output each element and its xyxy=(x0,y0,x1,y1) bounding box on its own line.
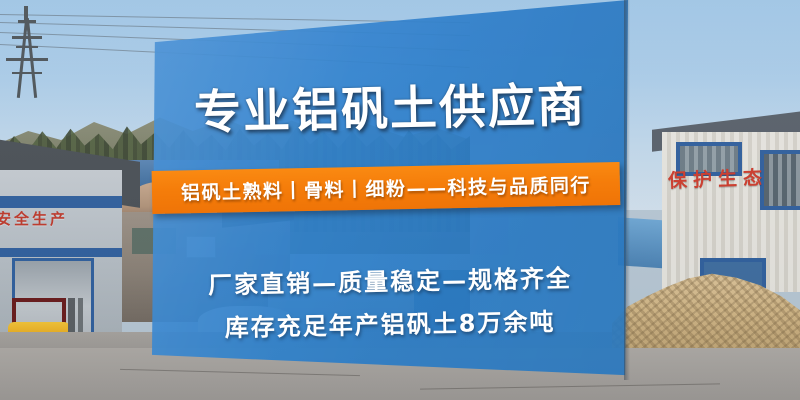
tagline-bar: 铝矾土熟料丨骨料丨细粉——科技与品质同行 xyxy=(152,162,621,214)
banner-image: 安全生产 保护生态 xyxy=(0,0,800,400)
tagline-text: 铝矾土熟料丨骨料丨细粉——科技与品质同行 xyxy=(181,171,591,206)
subline-1: 厂家直销—质量稳定—规格齐全 xyxy=(152,257,629,301)
banner-content: 专业铝矾土供应商 铝矾土熟料丨骨料丨细粉——科技与品质同行 厂家直销—质量稳定—… xyxy=(152,0,628,390)
subline-2: 库存充足年产铝矾土8万余吨 xyxy=(152,300,629,344)
headline: 专业铝矾土供应商 xyxy=(152,81,629,137)
